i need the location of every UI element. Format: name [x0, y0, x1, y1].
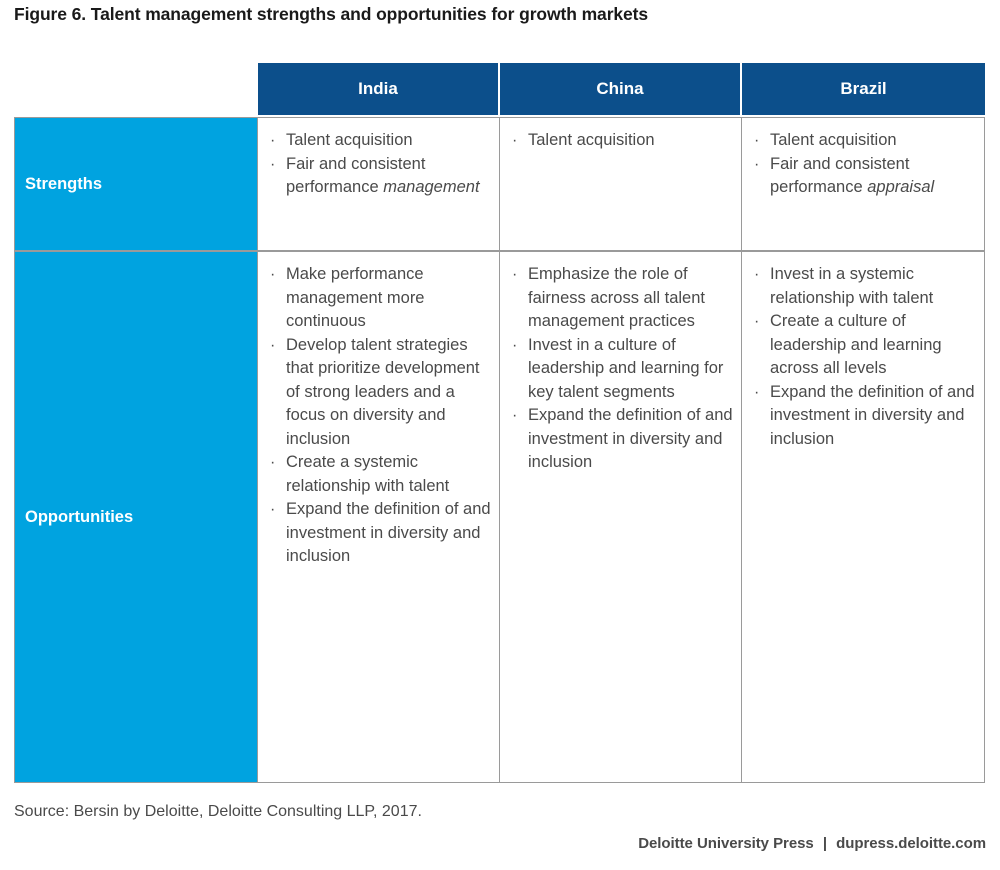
bullet-point-icon: · — [512, 129, 517, 153]
bullet-point-icon: · — [512, 263, 517, 287]
table-row: Strengths ·Talent acquisition·Fair and c… — [14, 117, 985, 251]
bullet-point-icon: · — [512, 404, 517, 428]
bullet-text: Talent acquisition — [286, 131, 413, 149]
bullet-item: ·Talent acquisition — [752, 129, 978, 153]
bullet-item: ·Expand the definition of and investment… — [268, 498, 493, 569]
bullet-text: Invest in a systemic relationship with t… — [770, 265, 933, 307]
row-label-strengths: Strengths — [14, 117, 258, 251]
bullet-point-icon: · — [754, 263, 759, 287]
bullet-list: ·Emphasize the role of fairness across a… — [510, 263, 735, 475]
bullet-text: Expand the definition of and investment … — [528, 406, 733, 471]
bullet-list: ·Talent acquisition — [510, 129, 735, 153]
bullet-item: ·Create a culture of leadership and lear… — [752, 310, 978, 381]
bullet-text: Create a culture of leadership and learn… — [770, 312, 942, 377]
bullet-point-icon: · — [270, 263, 275, 287]
credit-separator: | — [818, 835, 832, 852]
column-header-china: China — [500, 63, 742, 117]
bullet-text: Talent acquisition — [528, 131, 655, 149]
bullet-point-icon: · — [754, 310, 759, 334]
row-label-opportunities: Opportunities — [14, 251, 258, 783]
bullet-list: ·Talent acquisition·Fair and consistent … — [268, 129, 493, 200]
bullet-point-icon: · — [270, 451, 275, 475]
cell-strengths-brazil: ·Talent acquisition·Fair and consistent … — [742, 117, 985, 251]
bullet-item: ·Create a systemic relationship with tal… — [268, 451, 493, 498]
bullet-item: ·Fair and consistent performance managem… — [268, 153, 493, 200]
bullet-point-icon: · — [270, 153, 275, 177]
cell-opportunities-brazil: ·Invest in a systemic relationship with … — [742, 251, 985, 783]
bullet-item: ·Talent acquisition — [510, 129, 735, 153]
bullet-text: Develop talent strategies that prioritiz… — [286, 336, 480, 448]
source-note: Source: Bersin by Deloitte, Deloitte Con… — [14, 803, 422, 821]
bullet-text-emphasis: appraisal — [867, 178, 934, 196]
cell-strengths-india: ·Talent acquisition·Fair and consistent … — [258, 117, 500, 251]
bullet-point-icon: · — [754, 153, 759, 177]
column-header-brazil: Brazil — [742, 63, 985, 117]
cell-strengths-china: ·Talent acquisition — [500, 117, 742, 251]
bullet-text: Expand the definition of and investment … — [286, 500, 491, 565]
cell-opportunities-india: ·Make performance management more contin… — [258, 251, 500, 783]
bullet-point-icon: · — [270, 498, 275, 522]
bullet-item: ·Invest in a systemic relationship with … — [752, 263, 978, 310]
bullet-item: ·Expand the definition of and investment… — [752, 381, 978, 452]
strengths-opportunities-table: India China Brazil Strengths ·Talent acq… — [14, 63, 985, 783]
bullet-text: Emphasize the role of fairness across al… — [528, 265, 705, 330]
bullet-text: Talent acquisition — [770, 131, 897, 149]
publisher-credit: Deloitte University Press | dupress.delo… — [638, 835, 986, 852]
bullet-list: ·Make performance management more contin… — [268, 263, 493, 569]
bullet-item: ·Invest in a culture of leadership and l… — [510, 334, 735, 405]
column-header-india: India — [258, 63, 500, 117]
table-corner-cell — [14, 63, 258, 117]
page-title: Figure 6. Talent management strengths an… — [14, 4, 648, 25]
bullet-item: ·Talent acquisition — [268, 129, 493, 153]
bullet-item: ·Expand the definition of and investment… — [510, 404, 735, 475]
bullet-item: ·Develop talent strategies that prioriti… — [268, 334, 493, 452]
bullet-text: Create a systemic relationship with tale… — [286, 453, 449, 495]
table-header-row: India China Brazil — [14, 63, 985, 117]
bullet-point-icon: · — [512, 334, 517, 358]
bullet-point-icon: · — [270, 334, 275, 358]
figure-table-container: India China Brazil Strengths ·Talent acq… — [14, 63, 985, 783]
publisher-url: dupress.deloitte.com — [836, 835, 986, 852]
bullet-text: Expand the definition of and investment … — [770, 383, 975, 448]
publisher-name: Deloitte University Press — [638, 835, 814, 852]
bullet-point-icon: · — [754, 129, 759, 153]
bullet-text: Invest in a culture of leadership and le… — [528, 336, 723, 401]
bullet-point-icon: · — [754, 381, 759, 405]
bullet-item: ·Fair and consistent performance apprais… — [752, 153, 978, 200]
cell-opportunities-china: ·Emphasize the role of fairness across a… — [500, 251, 742, 783]
bullet-text-emphasis: management — [383, 178, 479, 196]
bullet-point-icon: · — [270, 129, 275, 153]
table-row: Opportunities ·Make performance manageme… — [14, 251, 985, 783]
bullet-text: Make performance management more continu… — [286, 265, 425, 330]
bullet-list: ·Invest in a systemic relationship with … — [752, 263, 978, 451]
bullet-list: ·Talent acquisition·Fair and consistent … — [752, 129, 978, 200]
bullet-item: ·Make performance management more contin… — [268, 263, 493, 334]
bullet-item: ·Emphasize the role of fairness across a… — [510, 263, 735, 334]
